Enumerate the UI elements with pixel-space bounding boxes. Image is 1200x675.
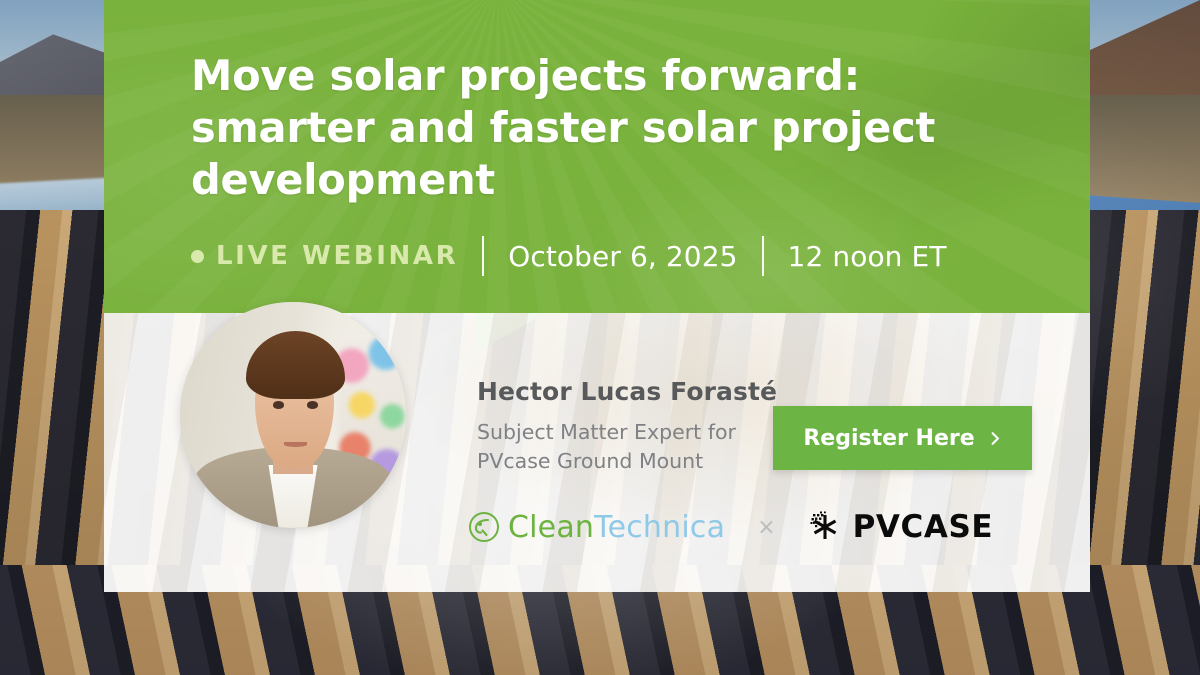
live-webinar-label: LIVE WEBINAR <box>216 241 458 271</box>
logo-row: CleanTechnica × PVCASE <box>468 509 993 545</box>
cleantechnica-mark-icon <box>468 511 500 543</box>
meta-divider-1 <box>482 236 484 276</box>
live-webinar-badge: LIVE WEBINAR <box>191 241 458 271</box>
page-title: Move solar projects forward: smarter and… <box>191 50 981 206</box>
speaker-avatar <box>180 302 406 528</box>
webinar-time: 12 noon ET <box>788 240 947 273</box>
avatar-mouth <box>284 442 307 447</box>
pvcase-mark-icon <box>808 510 842 544</box>
avatar-eye-right <box>307 401 318 408</box>
speaker-role-line1: Subject Matter Expert for <box>477 420 736 444</box>
speaker-role-line2: PVcase Ground Mount <box>477 449 703 473</box>
cleantechnica-word-clean: Clean <box>508 510 594 545</box>
avatar-eye-left <box>273 401 284 408</box>
meta-divider-2 <box>762 236 764 276</box>
cleantechnica-word-technica: Technica <box>594 510 725 545</box>
speaker-name: Hector Lucas Forasté <box>477 377 777 406</box>
logo-separator-x: × <box>757 515 775 540</box>
cleantechnica-wordmark: CleanTechnica <box>508 510 725 545</box>
register-here-button[interactable]: Register Here <box>773 406 1032 470</box>
register-button-label: Register Here <box>803 426 974 451</box>
chevron-right-icon <box>989 432 1002 445</box>
webinar-meta-row: LIVE WEBINAR October 6, 2025 12 noon ET <box>191 233 947 279</box>
webinar-date: October 6, 2025 <box>508 240 737 273</box>
speaker-role: Subject Matter Expert for PVcase Ground … <box>477 418 777 476</box>
pvcase-logo[interactable]: PVCASE <box>808 509 994 545</box>
pvcase-wordmark: PVCASE <box>853 509 994 545</box>
cleantechnica-logo[interactable]: CleanTechnica <box>468 510 725 545</box>
live-dot-icon <box>191 250 204 263</box>
